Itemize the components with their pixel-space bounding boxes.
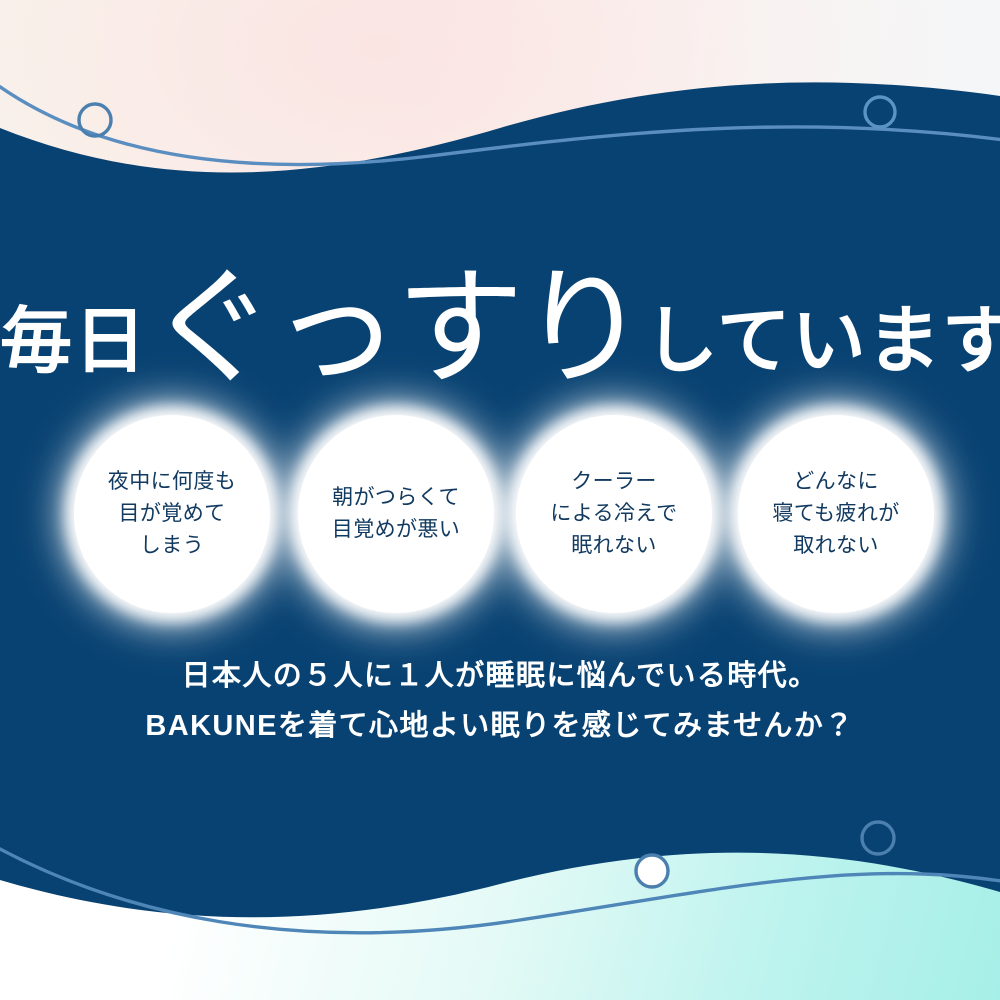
wave-node-icon-bottom-left: [636, 855, 668, 887]
bubble-line: どんなに: [793, 466, 879, 498]
bubble-line: しまう: [140, 530, 204, 562]
bubble-line: による冷えで: [550, 498, 677, 530]
bubble-line: クーラー: [571, 466, 657, 498]
wave-node-icon-top-left: [79, 104, 111, 136]
problem-bubble-night-waking: 夜中に何度も 目が覚めて しまう: [74, 415, 270, 613]
bubble-line: 目が覚めて: [119, 498, 226, 530]
lead-copy: 日本人の５人に１人が睡眠に悩んでいる時代。 BAKUNEを着て心地よい眠りを感じ…: [0, 652, 1000, 752]
headline-emphasis: ぐっすり: [148, 254, 644, 403]
bubble-line: 寝ても疲れが: [772, 498, 899, 530]
bubble-line: 眠れない: [571, 530, 657, 562]
bubble-line: 朝がつらくて: [332, 482, 460, 514]
lead-copy-line-1: 日本人の５人に１人が睡眠に悩んでいる時代。: [0, 652, 1000, 702]
bubble-line: 夜中に何度も: [108, 466, 236, 498]
headline-prefix: 毎日: [0, 302, 148, 382]
bubble-line: 取れない: [793, 530, 879, 562]
problem-bubble-aircon-chill: クーラー による冷えで 眠れない: [516, 415, 712, 613]
problem-bubble-hard-mornings: 朝がつらくて 目覚めが悪い: [298, 415, 494, 613]
headline-suffix: していますか？: [644, 298, 1000, 384]
bubble-line: 目覚めが悪い: [332, 514, 460, 546]
promo-canvas: 毎日ぐっすりしていますか？ 夜中に何度も 目が覚めて しまう 朝がつらくて 目覚…: [0, 0, 1000, 1000]
problem-bubble-row: 夜中に何度も 目が覚めて しまう 朝がつらくて 目覚めが悪い クーラー による冷…: [60, 415, 940, 615]
lead-copy-line-2: BAKUNEを着て心地よい眠りを感じてみませんか？: [0, 702, 1000, 752]
problem-bubble-lingering-fatigue: どんなに 寝ても疲れが 取れない: [738, 415, 934, 613]
page-headline: 毎日ぐっすりしていますか？: [0, 259, 1000, 387]
